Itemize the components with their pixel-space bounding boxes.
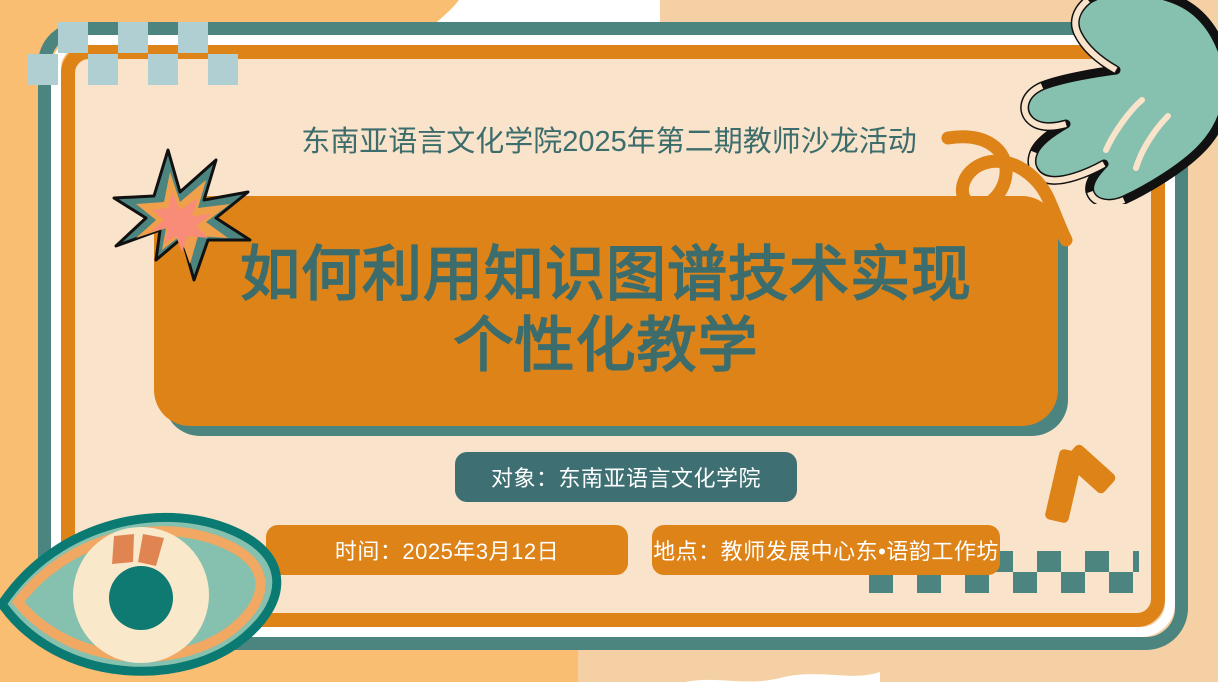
page-title: 如何利用知识图谱技术实现 个性化教学	[240, 240, 972, 382]
checkerboard-top-left-icon	[28, 18, 238, 88]
eye-icon	[0, 492, 288, 682]
time-badge: 时间：2025年3月12日	[266, 525, 628, 575]
poster-canvas: 东南亚语言文化学院2025年第二期教师沙龙活动 如何利用知识图谱技术实现 个性化…	[0, 0, 1218, 682]
star-burst-icon	[112, 148, 252, 284]
location-badge: 地点：教师发展中心东•语韵工作坊	[652, 525, 1000, 575]
loop-squiggle-icon	[930, 128, 1090, 250]
title-box: 如何利用知识图谱技术实现 个性化教学	[154, 196, 1058, 426]
audience-badge: 对象：东南亚语言文化学院	[455, 452, 797, 502]
